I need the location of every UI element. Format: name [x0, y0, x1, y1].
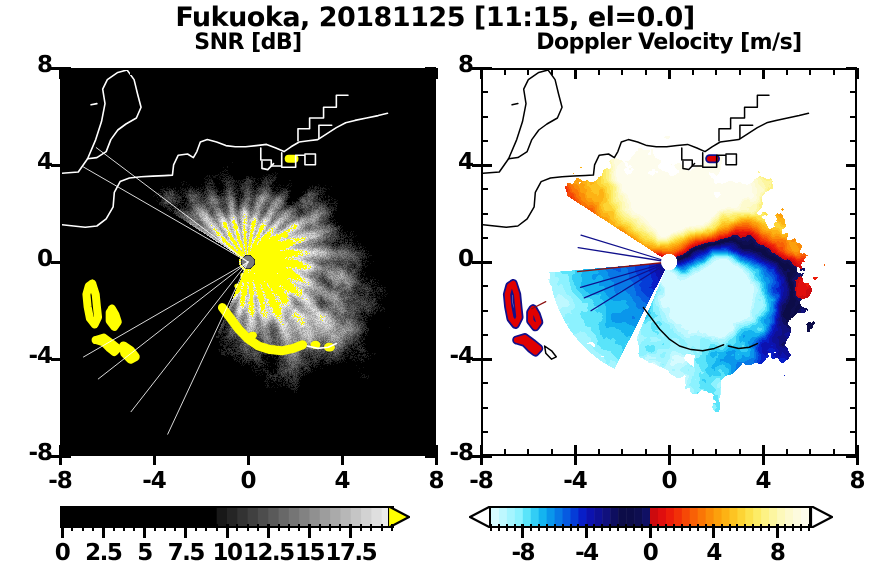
- axis-tick-y-out: [472, 455, 481, 458]
- snr-colorbar-label: 12.5: [228, 540, 308, 566]
- x-tick-label: 4: [302, 468, 382, 494]
- doppler-plot-area[interactable]: [481, 68, 857, 456]
- panel-title-doppler: Doppler Velocity [m/s]: [481, 30, 857, 55]
- snr-colorbar-max-arrow: [388, 506, 410, 528]
- axis-tick-y-out: [472, 164, 481, 167]
- snr-colorbar-label: 10: [187, 540, 267, 566]
- axis-tick-x-out: [668, 456, 671, 465]
- doppler-colorbar-label: 4: [674, 540, 754, 566]
- snr-image: [62, 70, 434, 454]
- axis-tick-x-out: [153, 456, 156, 465]
- panel-title-snr: SNR [dB]: [60, 30, 436, 55]
- x-tick-label: 0: [208, 468, 288, 494]
- radar-figure: Fukuoka, 20181125 [11:15, el=0.0] SNR [d…: [0, 0, 870, 570]
- doppler-colorbar[interactable]: [481, 504, 821, 526]
- doppler-colorbar-label: -8: [483, 540, 563, 566]
- snr-colorbar-label: 7.5: [146, 540, 226, 566]
- axis-tick-y-out: [51, 67, 60, 70]
- x-tick-label: 0: [629, 468, 709, 494]
- snr-plot-area[interactable]: [60, 68, 436, 456]
- axis-tick-y-out: [51, 358, 60, 361]
- doppler-colorbar-gradient: [489, 506, 811, 528]
- snr-colorbar-label: 5: [105, 540, 185, 566]
- axis-tick-x-out: [762, 456, 765, 465]
- axis-tick-y-out: [51, 164, 60, 167]
- axis-tick-x-out: [480, 456, 483, 465]
- axis-tick-y-out: [51, 261, 60, 264]
- axis-tick-x-out: [247, 456, 250, 465]
- snr-colorbar-gradient: [60, 506, 394, 528]
- axis-tick-x-out: [341, 456, 344, 465]
- snr-colorbar-label: 17.5: [311, 540, 391, 566]
- snr-colorbar-label: 2.5: [63, 540, 143, 566]
- axis-tick-y-out: [472, 358, 481, 361]
- doppler-colorbar-label: 8: [737, 540, 817, 566]
- axis-tick-x-out: [574, 456, 577, 465]
- doppler-colorbar-label: 0: [610, 540, 690, 566]
- y-tick-label: 0: [4, 246, 52, 272]
- x-tick-label: -4: [535, 468, 615, 494]
- x-tick-label: 4: [723, 468, 803, 494]
- figure-title: Fukuoka, 20181125 [11:15, el=0.0]: [0, 2, 870, 33]
- axis-tick-y-out: [472, 67, 481, 70]
- axis-tick-x-out: [435, 456, 438, 465]
- doppler-colorbar-max-arrow: [811, 506, 833, 528]
- snr-colorbar-label: 0: [22, 540, 102, 566]
- snr-colorbar-label: 15: [270, 540, 350, 566]
- doppler-colorbar-min-arrow: [469, 506, 491, 528]
- x-tick-label: 8: [817, 468, 870, 494]
- y-tick-label: 4: [4, 149, 52, 175]
- x-tick-label: -8: [441, 468, 521, 494]
- x-tick-label: -4: [114, 468, 194, 494]
- doppler-colorbar-label: -4: [546, 540, 626, 566]
- x-tick-label: 8: [396, 468, 476, 494]
- axis-tick-y-out: [472, 261, 481, 264]
- doppler-image: [483, 70, 855, 454]
- x-tick-label: -8: [20, 468, 100, 494]
- y-tick-label: -4: [4, 343, 52, 369]
- axis-tick-x-out: [856, 456, 859, 465]
- y-tick-label: 8: [4, 52, 52, 78]
- axis-tick-y-out: [51, 455, 60, 458]
- y-tick-label: -8: [4, 440, 52, 466]
- axis-tick-x-out: [59, 456, 62, 465]
- snr-colorbar[interactable]: [60, 504, 400, 526]
